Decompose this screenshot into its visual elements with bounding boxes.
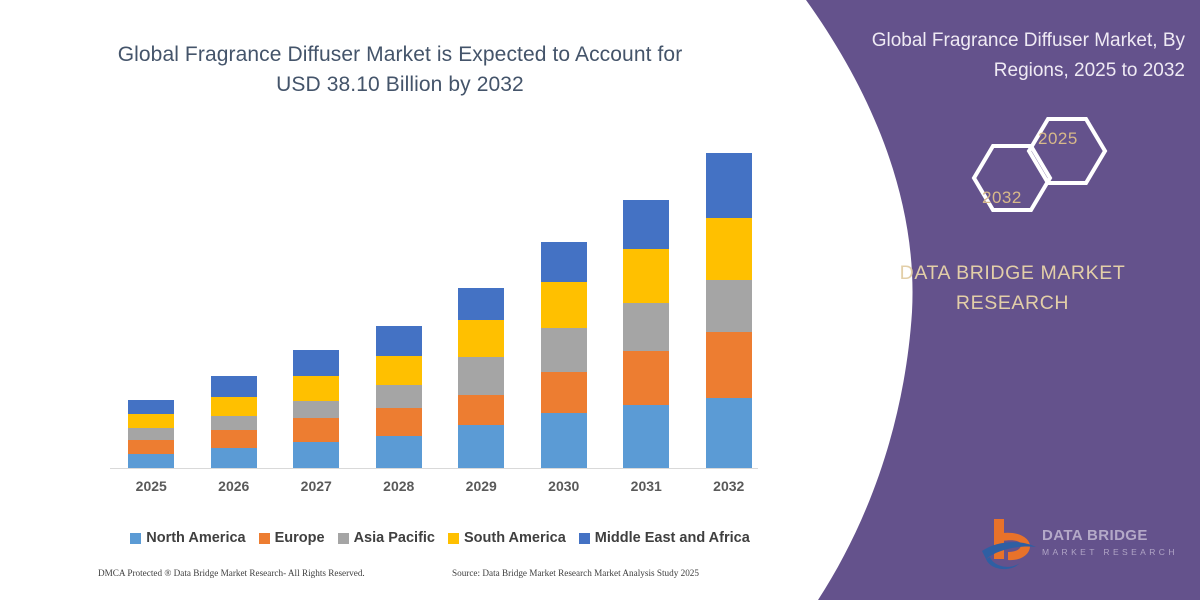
bar-segment [376,408,422,436]
bar-column-2027 [275,140,357,468]
bar-segment [623,405,669,468]
bar-segment [706,280,752,332]
stacked-bar [376,326,422,468]
x-axis-label-2026: 2026 [193,478,275,500]
bar-segment [458,357,504,395]
chart-title-line1: Global Fragrance Diffuser Market is Expe… [60,40,740,70]
footer-copyright: DMCA Protected ® Data Bridge Market Rese… [98,568,365,578]
bar-segment [128,428,174,440]
bar-segment [623,200,669,249]
stacked-bar [458,288,504,468]
bar-segment [706,332,752,398]
chart-title-line2: USD 38.10 Billion by 2032 [60,70,740,100]
x-axis-label-2025: 2025 [110,478,192,500]
bar-segment [458,320,504,357]
legend-label: South America [464,530,566,546]
bar-column-2030 [523,140,605,468]
bar-segment [376,356,422,385]
legend-swatch-icon [259,533,270,544]
infographic-canvas: Global Fragrance Diffuser Market is Expe… [0,0,1200,600]
bar-segment [623,351,669,405]
brand-name: DATA BRIDGE MARKET RESEARCH [840,258,1185,318]
stacked-bar [128,400,174,468]
stacked-bar [211,376,257,468]
legend-swatch-icon [130,533,141,544]
legend-swatch-icon [338,533,349,544]
bar-column-2025 [110,140,192,468]
bar-segment [293,401,339,418]
company-logo: DATA BRIDGE MARKET RESEARCH [980,515,1195,577]
footer-source: Source: Data Bridge Market Research Mark… [452,568,699,578]
panel-title: Global Fragrance Diffuser Market, By Reg… [830,26,1185,86]
bar-column-2032 [688,140,770,468]
stacked-bar [541,242,587,468]
chart-title: Global Fragrance Diffuser Market is Expe… [60,40,740,100]
footer: DMCA Protected ® Data Bridge Market Rese… [0,568,800,588]
bar-segment [706,153,752,217]
x-axis-label-2030: 2030 [523,478,605,500]
legend-item: Asia Pacific [338,530,435,546]
logo-text-sub: MARKET RESEARCH [1042,547,1178,557]
legend-label: Middle East and Africa [595,530,750,546]
bar-segment [128,454,174,468]
bar-segment [293,376,339,401]
bar-segment [541,372,587,413]
legend-item: South America [448,530,566,546]
x-axis-line [110,468,758,469]
bar-column-2029 [440,140,522,468]
hexagon-label-2025: 2025 [1038,129,1078,149]
bar-segment [211,397,257,416]
hexagon-shapes [930,108,1190,233]
bar-segment [458,425,504,468]
panel-title-line2: Regions, 2025 to 2032 [830,56,1185,86]
legend-swatch-icon [448,533,459,544]
hexagon-label-2032: 2032 [982,188,1022,208]
brand-line1: DATA BRIDGE MARKET [840,258,1185,288]
bar-segment [376,385,422,408]
bar-segment [211,430,257,448]
bar-segment [293,442,339,468]
bar-segment [211,448,257,468]
legend-label: North America [146,530,245,546]
bar-column-2031 [605,140,687,468]
x-axis-label-2028: 2028 [358,478,440,500]
stacked-bar [623,200,669,468]
bar-segment [623,249,669,303]
chart-panel: Global Fragrance Diffuser Market is Expe… [0,0,800,600]
bar-segment [706,218,752,280]
bar-column-2026 [193,140,275,468]
x-axis-label-2029: 2029 [440,478,522,500]
bar-segment [293,418,339,441]
bar-segment [128,414,174,428]
bar-segment [128,440,174,454]
bar-segment [376,326,422,356]
bar-segment [458,288,504,320]
bar-segment [211,376,257,397]
branding-panel: Global Fragrance Diffuser Market, By Reg… [820,0,1200,600]
x-axis-label-2027: 2027 [275,478,357,500]
year-hexagon-group: 2032 2025 [930,108,1190,233]
bar-column-2028 [358,140,440,468]
chart-legend: North AmericaEuropeAsia PacificSouth Ame… [110,530,770,546]
bar-segment [128,400,174,414]
b-bridge-logo-icon [980,515,1040,573]
logo-text-main: DATA BRIDGE [1042,527,1148,544]
brand-line2: RESEARCH [840,288,1185,318]
legend-label: Europe [275,530,325,546]
bar-segment [623,303,669,352]
bar-segment [293,350,339,376]
bar-segment [706,398,752,468]
bar-segment [541,328,587,372]
legend-label: Asia Pacific [354,530,435,546]
bar-segment [458,395,504,425]
bar-segment [541,242,587,282]
legend-item: North America [130,530,245,546]
x-axis-label-2032: 2032 [688,478,770,500]
bar-segment [541,282,587,328]
x-axis-labels: 20252026202720282029203020312032 [110,478,770,500]
legend-swatch-icon [579,533,590,544]
bar-segment [376,436,422,468]
panel-title-line1: Global Fragrance Diffuser Market, By [830,26,1185,56]
bar-segment [541,413,587,468]
stacked-bar [706,153,752,468]
x-axis-label-2031: 2031 [605,478,687,500]
bar-segment [211,416,257,430]
stacked-bar [293,350,339,468]
stacked-bar-group [110,140,770,468]
legend-item: Middle East and Africa [579,530,750,546]
legend-item: Europe [259,530,325,546]
